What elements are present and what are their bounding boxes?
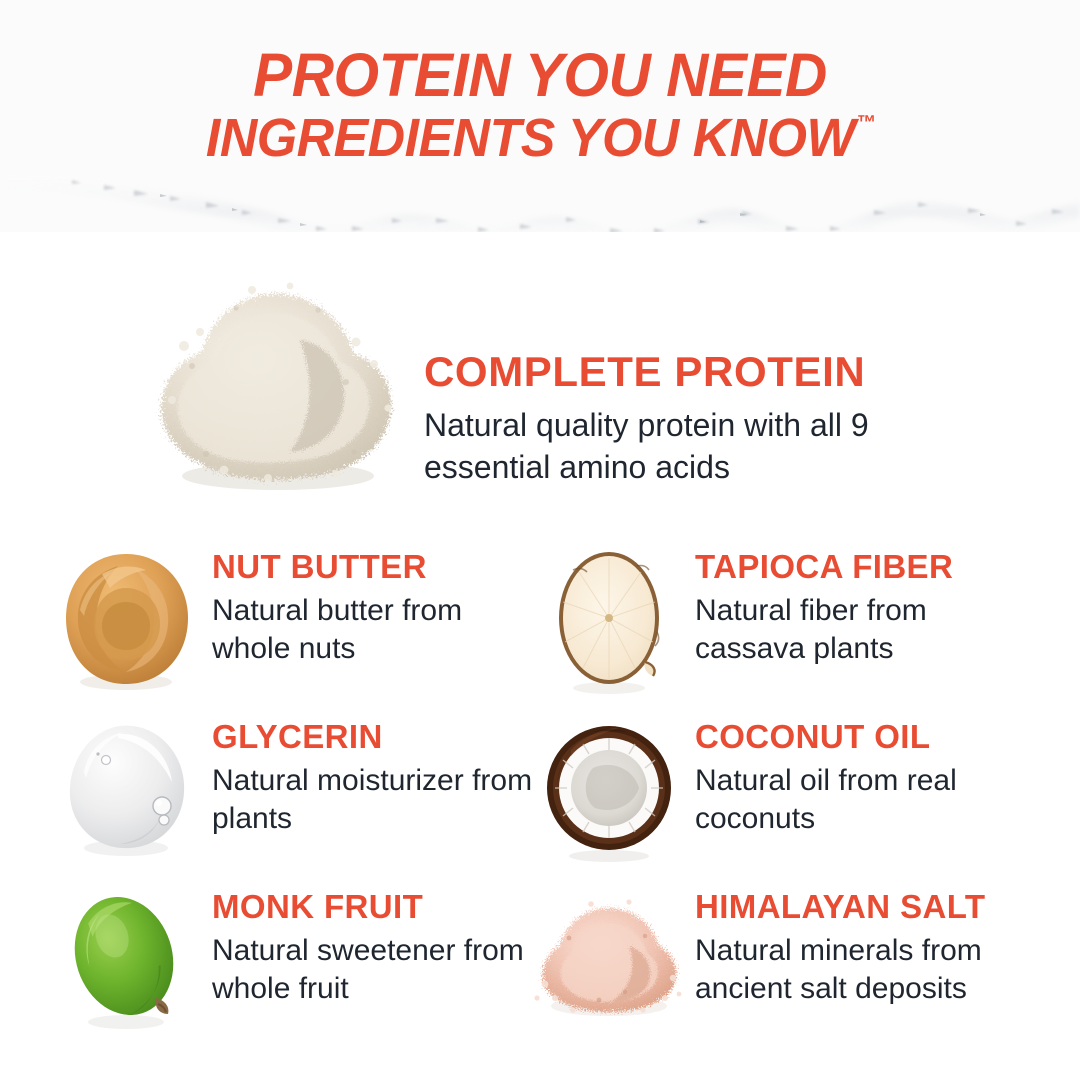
monk-fruit-title: MONK FRUIT	[212, 890, 548, 925]
monk-fruit-icon	[50, 880, 202, 1040]
nut-butter-title: NUT BUTTER	[212, 550, 548, 585]
nut-butter-text-block: NUT BUTTER Natural butter from whole nut…	[212, 550, 548, 669]
glycerin-title: GLYCERIN	[212, 720, 548, 755]
trademark-symbol: ™	[857, 112, 876, 134]
hero-ingredient: COMPLETE PROTEIN Natural quality protein…	[0, 254, 1080, 534]
coconut-oil-text-block: COCONUT OIL Natural oil from real coconu…	[695, 720, 1031, 839]
himalayan-salt-description: Natural minerals from ancient salt depos…	[695, 932, 1031, 1009]
glycerin-text-block: GLYCERIN Natural moisturizer from plants	[212, 720, 548, 839]
himalayan-salt-mound-icon	[533, 880, 685, 1040]
ingredient-card-himalayan-salt: HIMALAYAN SALT Natural minerals from anc…	[533, 880, 1033, 1048]
monk-fruit-description: Natural sweetener from whole fruit	[212, 932, 548, 1009]
cassava-root-slice-icon	[533, 540, 685, 700]
ingredient-card-coconut-oil: COCONUT OIL Natural oil from real coconu…	[533, 710, 1033, 878]
hero-description: Natural quality protein with all 9 essen…	[424, 404, 944, 488]
glycerin-svg	[50, 710, 202, 870]
protein-powder-mound-icon	[140, 270, 412, 510]
header-band: PROTEIN YOU NEED INGREDIENTS YOU KNOW™	[0, 0, 1080, 232]
content-area: COMPLETE PROTEIN Natural quality protein…	[0, 232, 1080, 1080]
nut-butter-description: Natural butter from whole nuts	[212, 592, 548, 669]
page-title: PROTEIN YOU NEED INGREDIENTS YOU KNOW™	[0, 46, 1080, 165]
glycerin-droplet-icon	[50, 710, 202, 870]
coconut-oil-title: COCONUT OIL	[695, 720, 1031, 755]
hero-text-block: COMPLETE PROTEIN Natural quality protein…	[424, 350, 944, 488]
himalayan-salt-title: HIMALAYAN SALT	[695, 890, 1031, 925]
headline-line-2-text: INGREDIENTS YOU KNOW	[206, 108, 855, 168]
glycerin-description: Natural moisturizer from plants	[212, 762, 548, 839]
tapioca-fiber-title: TAPIOCA FIBER	[695, 550, 1031, 585]
himalayan-salt-text-block: HIMALAYAN SALT Natural minerals from anc…	[695, 890, 1031, 1009]
headline-line-1: PROTEIN YOU NEED	[22, 46, 1059, 106]
ingredient-infographic: PROTEIN YOU NEED INGREDIENTS YOU KNOW™	[0, 0, 1080, 1080]
tapioca-fiber-description: Natural fiber from cassava plants	[695, 592, 1031, 669]
coconut-oil-description: Natural oil from real coconuts	[695, 762, 1031, 839]
nut-butter-svg	[50, 540, 202, 700]
protein-powder-svg	[140, 270, 412, 510]
monk-fruit-svg	[50, 880, 202, 1040]
monk-fruit-text-block: MONK FRUIT Natural sweetener from whole …	[212, 890, 548, 1009]
ingredient-card-tapioca-fiber: TAPIOCA FIBER Natural fiber from cassava…	[533, 540, 1033, 708]
ingredient-card-glycerin: GLYCERIN Natural moisturizer from plants	[50, 710, 550, 878]
cassava-slice-svg	[533, 540, 685, 700]
ingredient-card-monk-fruit: MONK FRUIT Natural sweetener from whole …	[50, 880, 550, 1048]
himalayan-salt-svg	[533, 880, 685, 1040]
headline-line-2: INGREDIENTS YOU KNOW™	[22, 112, 1059, 165]
ingredient-grid: NUT BUTTER Natural butter from whole nut…	[0, 540, 1080, 1068]
nut-butter-swirl-icon	[50, 540, 202, 700]
hero-title: COMPLETE PROTEIN	[424, 350, 944, 395]
coconut-svg	[533, 710, 685, 870]
ingredient-card-nut-butter: NUT BUTTER Natural butter from whole nut…	[50, 540, 550, 708]
tapioca-fiber-text-block: TAPIOCA FIBER Natural fiber from cassava…	[695, 550, 1031, 669]
coconut-half-icon	[533, 710, 685, 870]
